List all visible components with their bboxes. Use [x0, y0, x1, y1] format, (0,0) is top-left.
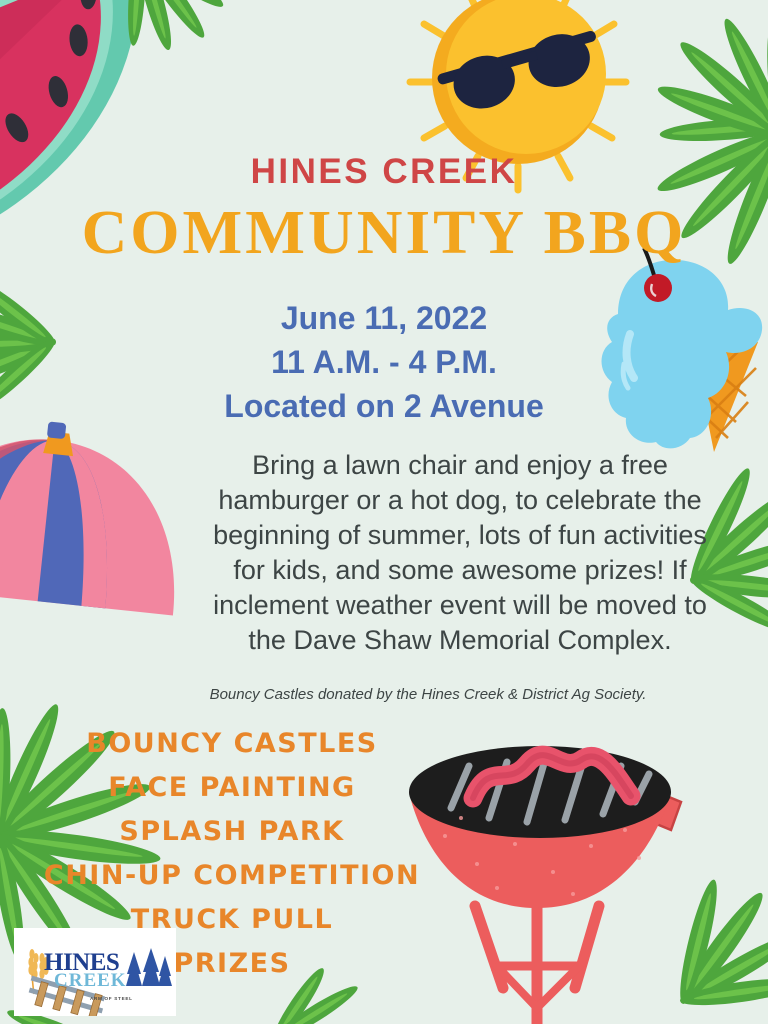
- list-item: FACE PAINTING: [42, 766, 422, 810]
- hines-creek-logo: HINES CREEK ARM OF STEEL: [14, 928, 176, 1016]
- list-item: CHIN-UP COMPETITION: [42, 854, 422, 898]
- logo-line2: CREEK: [54, 970, 127, 991]
- list-item: BOUNCY CASTLES: [42, 722, 422, 766]
- event-description: Bring a lawn chair and enjoy a free hamb…: [196, 448, 724, 658]
- sponsor-credit: Bouncy Castles donated by the Hines Cree…: [168, 686, 688, 703]
- event-date: June 11, 2022: [0, 296, 768, 340]
- logo-tagline: ARM OF STEEL: [90, 996, 133, 1001]
- event-details: June 11, 2022 11 A.M. - 4 P.M. Located o…: [0, 296, 768, 428]
- event-time: 11 A.M. - 4 P.M.: [0, 340, 768, 384]
- poster-canvas: HINES CREEK COMMUNITY BBQ June 11, 2022 …: [0, 0, 768, 1024]
- poster-content: HINES CREEK COMMUNITY BBQ June 11, 2022 …: [0, 0, 768, 1024]
- page-title-kicker: HINES CREEK: [0, 152, 768, 192]
- event-location: Located on 2 Avenue: [0, 384, 768, 428]
- page-title: COMMUNITY BBQ: [0, 198, 768, 269]
- list-item: SPLASH PARK: [42, 810, 422, 854]
- hines-creek-logo-icon: HINES CREEK ARM OF STEEL: [14, 928, 176, 1016]
